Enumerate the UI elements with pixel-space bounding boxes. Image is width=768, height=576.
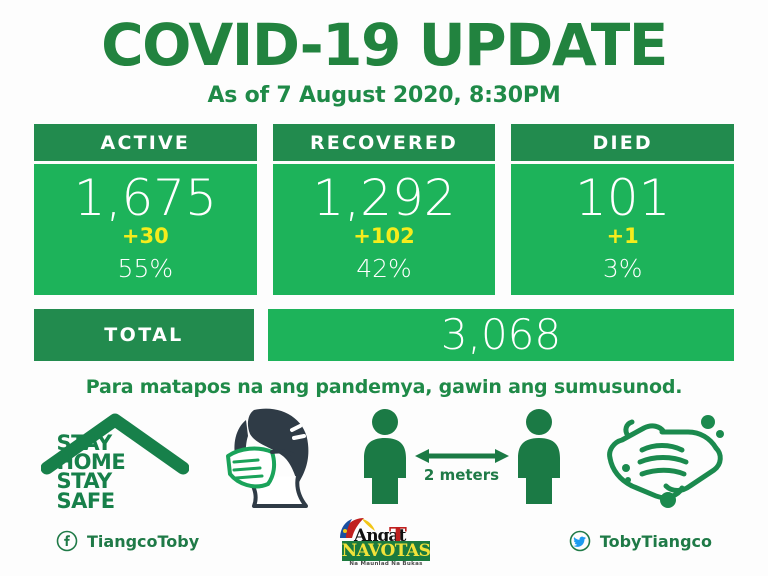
stat-card-died-percent: 3% <box>511 255 734 283</box>
face-with-mask-icon <box>210 404 326 512</box>
stay-home-text: STAY HOME STAY SAFE <box>57 434 177 511</box>
stat-card-active-delta: +30 <box>34 224 257 249</box>
stat-card-died-label: DIED <box>511 124 734 161</box>
stat-card-recovered-percent: 42% <box>273 255 496 283</box>
stat-card-recovered: RECOVERED 1,292 +102 42% <box>273 124 496 295</box>
facebook-handle[interactable]: TiangcoToby <box>87 532 199 551</box>
page-title: COVID-19 UPDATE <box>0 16 768 74</box>
stat-card-died-body: 101 +1 3% <box>511 164 734 295</box>
total-value: 3,068 <box>268 309 734 361</box>
total-label: TOTAL <box>34 309 254 361</box>
advice-icons: STAY HOME STAY SAFE <box>30 402 738 514</box>
facebook-link[interactable]: TiangcoToby <box>56 530 199 552</box>
page-subtitle: As of 7 August 2020, 8:30PM <box>0 83 768 108</box>
advice-wear-mask <box>210 404 326 512</box>
header: COVID-19 UPDATE As of 7 August 2020, 8:3… <box>0 0 768 108</box>
tagline: Para matapos na ang pandemya, gawin ang … <box>0 376 768 398</box>
stats-cards: ACTIVE 1,675 +30 55% RECOVERED 1,292 +10… <box>34 124 734 295</box>
twitter-handle[interactable]: TobyTiangco <box>600 532 712 551</box>
stat-card-recovered-value: 1,292 <box>273 170 496 226</box>
stat-card-recovered-body: 1,292 +102 42% <box>273 164 496 295</box>
social-distancing-icon <box>347 404 577 512</box>
stat-card-active-percent: 55% <box>34 255 257 283</box>
stay-home-line-4: SAFE <box>57 492 177 511</box>
stat-card-died-value: 101 <box>511 170 734 226</box>
logo-navotas-text: NAVOTAS <box>342 540 430 561</box>
stat-card-active-value: 1,675 <box>34 170 257 226</box>
stat-card-died-delta: +1 <box>511 224 734 249</box>
washing-hands-icon <box>598 406 728 510</box>
navotas-logo: Angat T NAVOTAS Na Maunlad Na Bukas <box>332 514 436 568</box>
advice-wash-hands <box>598 406 728 510</box>
stat-card-recovered-delta: +102 <box>273 224 496 249</box>
advice-stay-home: STAY HOME STAY SAFE <box>41 406 189 510</box>
twitter-link[interactable]: TobyTiangco <box>569 530 712 552</box>
stat-card-active-label: ACTIVE <box>34 124 257 161</box>
infographic-page: COVID-19 UPDATE As of 7 August 2020, 8:3… <box>0 0 768 576</box>
stat-card-active-body: 1,675 +30 55% <box>34 164 257 295</box>
facebook-icon[interactable] <box>56 530 78 552</box>
stat-card-recovered-label: RECOVERED <box>273 124 496 161</box>
footer: TiangcoToby Angat T NAVOTAS Na Maunlad N… <box>0 514 768 568</box>
logo-tagline: Na Maunlad Na Bukas <box>340 561 432 567</box>
advice-social-distancing: 2 meters <box>347 404 577 512</box>
total-row: TOTAL 3,068 <box>34 309 734 361</box>
stat-card-died: DIED 101 +1 3% <box>511 124 734 295</box>
distance-label: 2 meters <box>347 466 577 484</box>
stat-card-active: ACTIVE 1,675 +30 55% <box>34 124 257 295</box>
twitter-icon[interactable] <box>569 530 591 552</box>
